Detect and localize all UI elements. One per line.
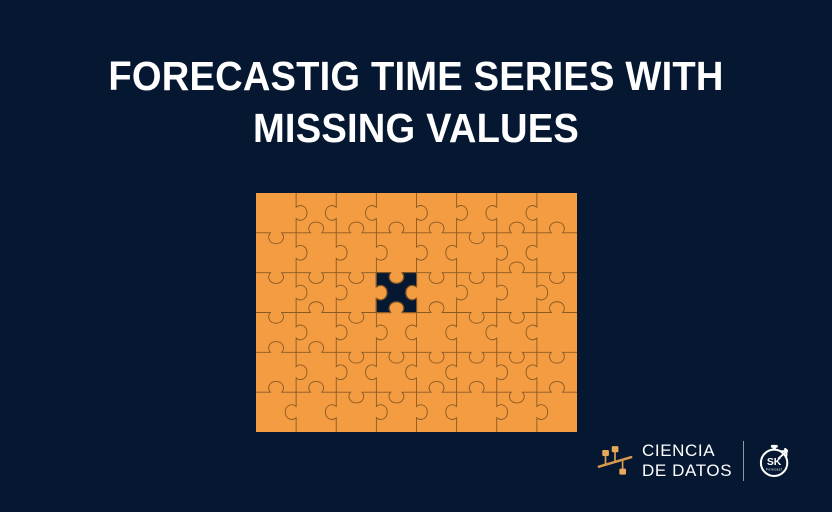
badge-subtitle: Forecast <box>766 467 782 471</box>
puzzle-graphic <box>256 193 577 432</box>
logo-word-line-2: DE DATOS <box>642 461 732 481</box>
title-line-1: FORECASTIG TIME SERIES WITH <box>29 50 803 102</box>
brand-logo: CIENCIA DE DATOS SK Forecast <box>596 435 786 487</box>
puzzle-svg <box>256 193 577 432</box>
logo-word-line-1: CIENCIA <box>642 441 732 461</box>
slide-canvas: FORECASTIG TIME SERIES WITH MISSING VALU… <box>0 0 832 512</box>
title-line-2: MISSING VALUES <box>29 102 803 154</box>
logo-wordmark: CIENCIA DE DATOS <box>642 441 732 481</box>
scatter-trendline-icon <box>596 442 634 480</box>
badge-initials: SK <box>767 457 782 468</box>
stopwatch-icon: SK Forecast <box>755 441 795 481</box>
logo-divider <box>743 441 744 481</box>
page-title: FORECASTIG TIME SERIES WITH MISSING VALU… <box>0 50 832 154</box>
